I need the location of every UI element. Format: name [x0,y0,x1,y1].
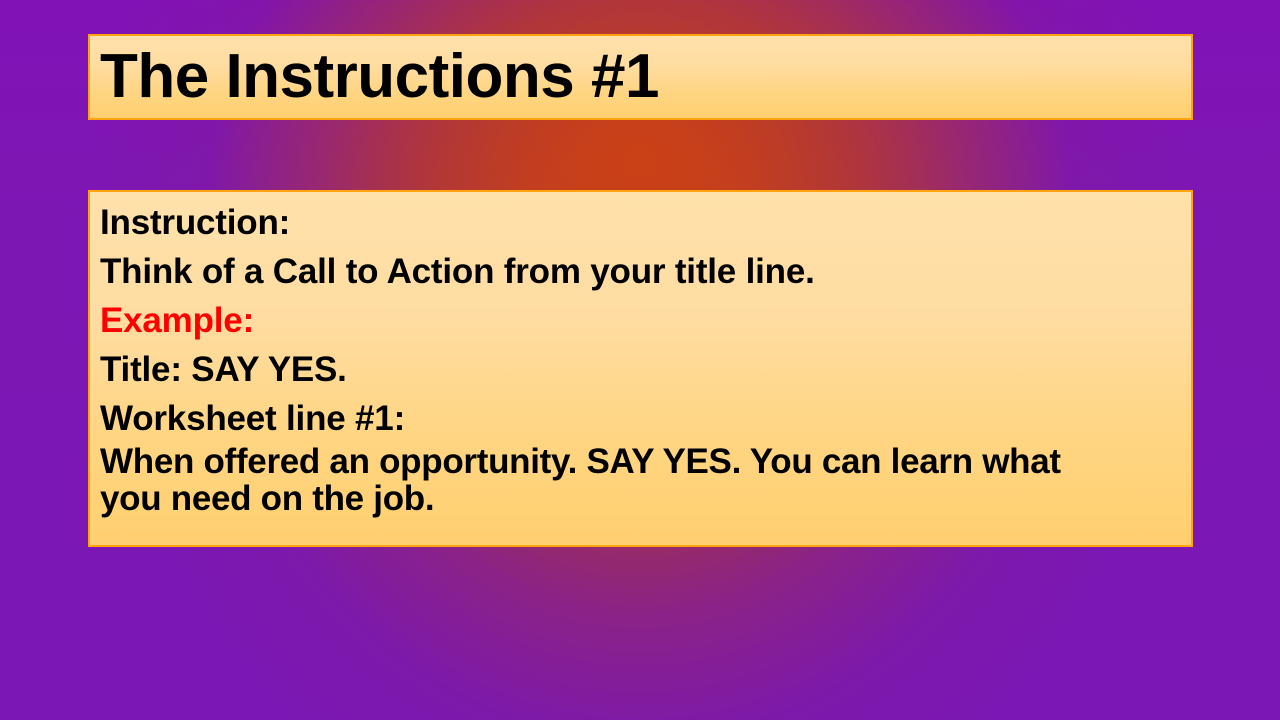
instruction-text: Think of a Call to Action from your titl… [100,247,1183,296]
instruction-card: Instruction: Think of a Call to Action f… [88,190,1193,547]
worksheet-answer-line-2: you need on the job. [100,480,1183,517]
worksheet-answer-line-1: When offered an opportunity. SAY YES. Yo… [100,443,1183,480]
example-label: Example: [100,296,1183,345]
worksheet-label: Worksheet line #1: [100,394,1183,443]
instruction-label: Instruction: [100,198,1183,247]
slide-canvas: The Instructions #1 Instruction: Think o… [0,0,1280,720]
worksheet-answer: When offered an opportunity. SAY YES. Yo… [100,443,1183,517]
title-card: The Instructions #1 [88,34,1193,120]
page-title: The Instructions #1 [90,46,659,108]
example-title: Title: SAY YES. [100,345,1183,394]
